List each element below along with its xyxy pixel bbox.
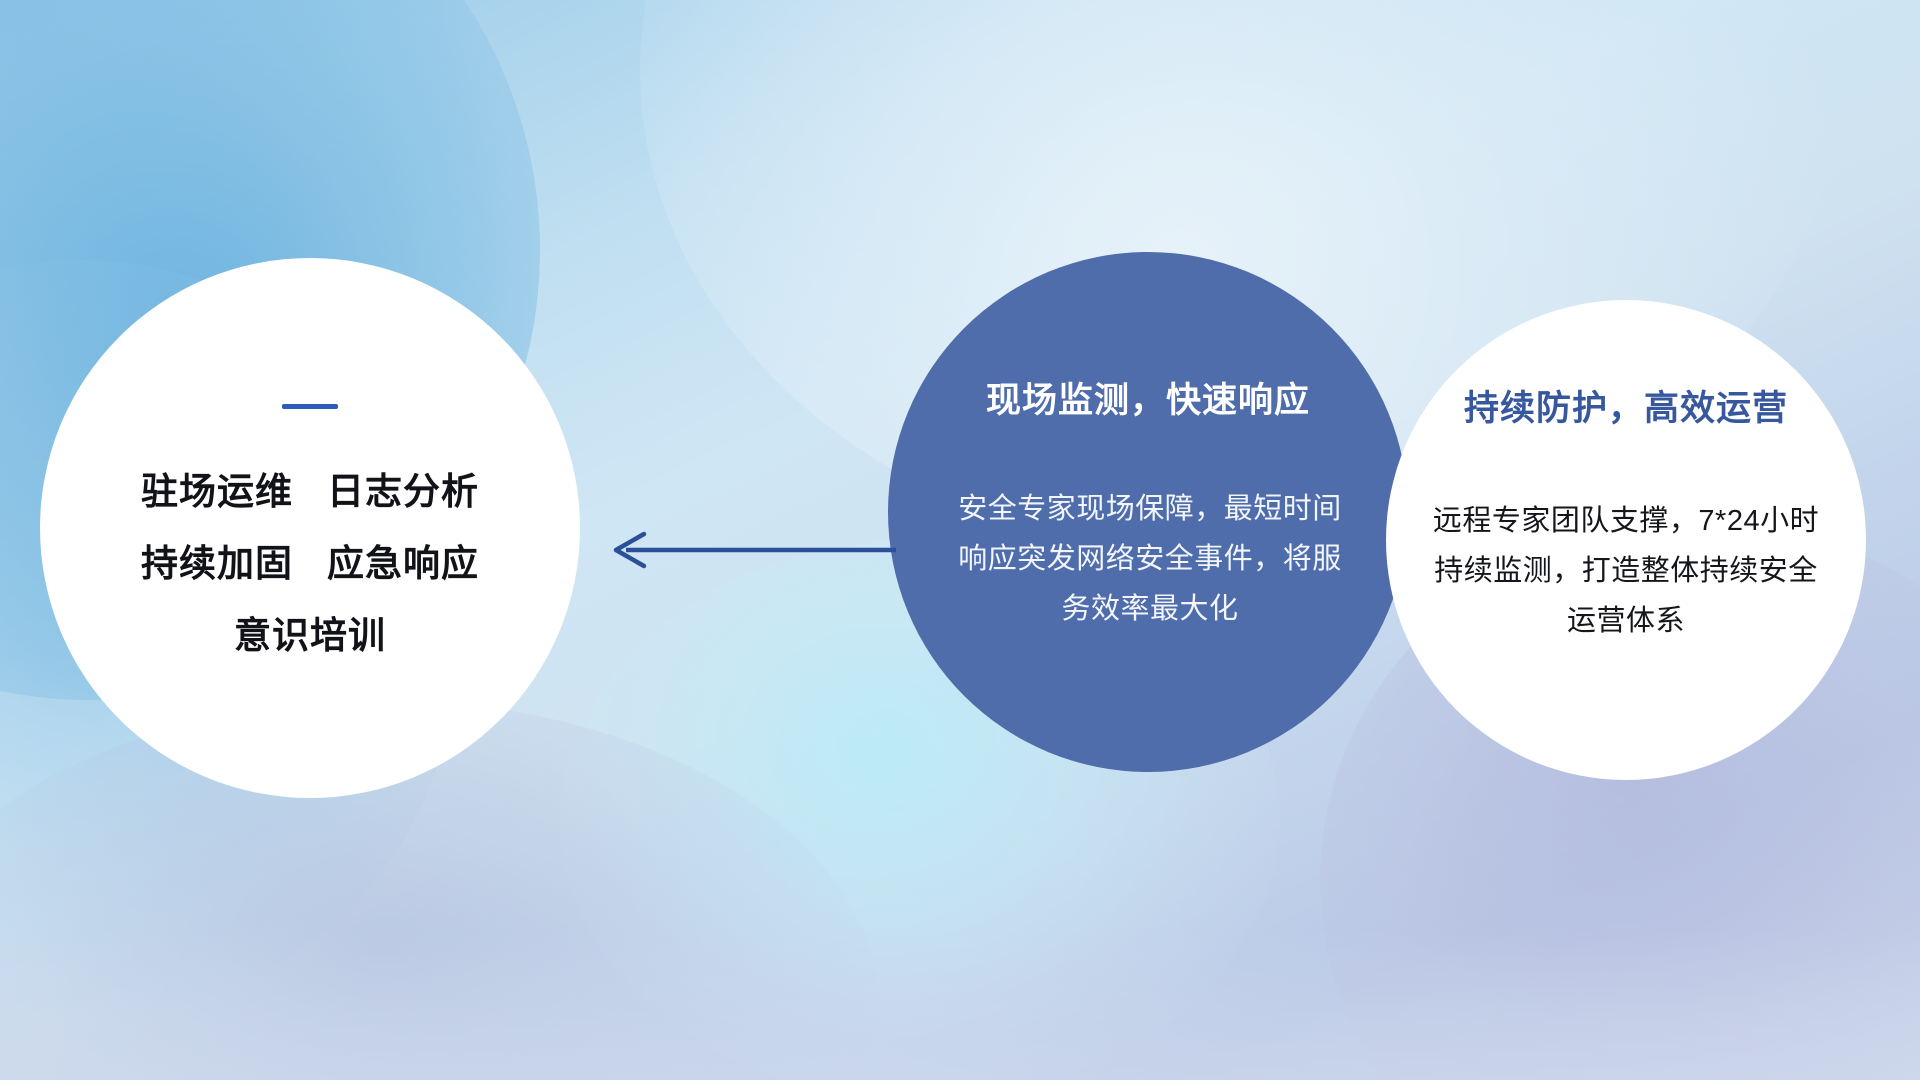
capability-row: 意识培训 [40, 600, 580, 672]
continuous-protection-circle: 持续防护，高效运营 远程专家团队支撑，7*24小时持续监测，打造整体持续安全运营… [1386, 300, 1866, 780]
capabilities-circle: 驻场运维日志分析 持续加固应急响应 意识培训 [40, 258, 580, 798]
onsite-monitoring-body: 安全专家现场保障，最短时间响应突发网络安全事件，将服务效率最大化 [944, 484, 1356, 634]
capability-keyword: 日志分析 [327, 456, 479, 528]
slide-canvas: 现场监测，快速响应 安全专家现场保障，最短时间响应突发网络安全事件，将服务效率最… [0, 0, 1920, 1080]
capability-keyword: 持续加固 [141, 528, 293, 600]
divider-dash-icon [282, 404, 338, 409]
background-bottom-fade [0, 930, 1920, 1080]
capability-keyword: 应急响应 [327, 528, 479, 600]
onsite-monitoring-circle: 现场监测，快速响应 安全专家现场保障，最短时间响应突发网络安全事件，将服务效率最… [888, 252, 1408, 772]
capability-keyword: 驻场运维 [141, 456, 293, 528]
continuous-protection-title: 持续防护，高效运营 [1386, 380, 1866, 431]
onsite-monitoring-title: 现场监测，快速响应 [888, 372, 1408, 423]
capability-keyword-list: 驻场运维日志分析 持续加固应急响应 意识培训 [40, 456, 580, 672]
capability-row: 持续加固应急响应 [40, 528, 580, 600]
capability-row: 驻场运维日志分析 [40, 456, 580, 528]
capability-keyword: 意识培训 [234, 600, 386, 672]
continuous-protection-body: 远程专家团队支撑，7*24小时持续监测，打造整体持续安全运营体系 [1430, 496, 1822, 646]
left-pointing-arrow-icon [600, 520, 900, 580]
